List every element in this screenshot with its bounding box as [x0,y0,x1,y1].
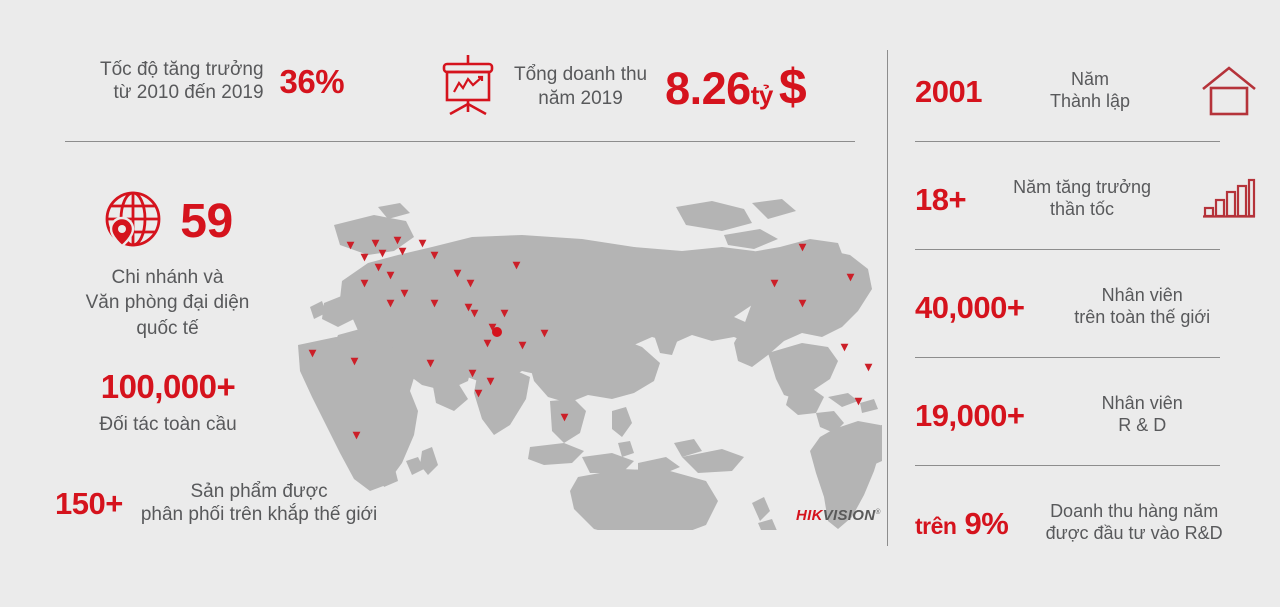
map-location-marker [398,247,407,256]
employees-label-line2: trên toàn thế giới [1024,307,1260,329]
products-label-line2: phân phối trên khắp thế giới [141,503,377,526]
map-location-marker [770,279,779,288]
divider-right-2 [915,249,1220,250]
stat-products: 150+ Sản phẩm được phân phối trên khắp t… [55,480,377,526]
map-location-marker [483,339,492,348]
map-location-marker [360,279,369,288]
logo-trademark: ® [875,509,880,516]
map-location-marker [512,261,521,270]
founded-label-line1: Năm [982,69,1198,91]
rd-investment-label: Doanh thu hàng năm được đầu tư vào R&D [1008,501,1260,545]
map-location-marker [378,249,387,258]
map-location-marker [500,309,509,318]
world-map: HIKVISION® [282,185,882,530]
rd-employees-value: 19,000+ [915,400,1024,431]
stat-growth-rate: Tốc độ tăng trưởng từ 2010 đến 2019 36% [100,58,344,104]
employees-label: Nhân viên trên toàn thế giới [1024,285,1260,329]
rd-investment-label-line2: được đầu tư vào R&D [1008,523,1260,545]
map-location-marker [400,289,409,298]
map-location-marker [560,413,569,422]
growth-label-line1: Tốc độ tăng trưởng [100,58,264,81]
partners-value: 100,000+ [58,370,278,403]
map-location-marker [352,431,361,440]
branches-label: Chi nhánh và Văn phòng đại diện quốc tế [55,265,280,341]
partners-label: Đối tác toàn cầu [58,413,278,436]
founded-value: 2001 [915,76,982,107]
map-location-marker [350,357,359,366]
revenue-value-group: 8.26tỷ$ [665,62,806,112]
map-location-marker [393,236,402,245]
rd-employees-label-line2: R & D [1024,415,1260,437]
map-location-marker [840,343,849,352]
branches-value: 59 [180,198,232,246]
products-value: 150+ [55,488,123,519]
map-location-marker [418,239,427,248]
branches-label-line2: Văn phòng đại diện [55,290,280,315]
rd-investment-prefix: trên [915,515,956,538]
map-location-marker [854,397,863,406]
revenue-label: Tổng doanh thu năm 2019 [514,63,647,109]
world-map-shape [282,185,882,530]
founded-label-line2: Thành lập [982,91,1198,113]
branches-label-line3: quốc tế [55,316,280,341]
rd-employees-label-line1: Nhân viên [1024,393,1260,415]
rd-investment-value-group: trên 9% [915,508,1008,539]
employees-value: 40,000+ [915,292,1024,323]
growth-label: Tốc độ tăng trưởng từ 2010 đến 2019 [100,58,264,104]
stat-total-revenue: Tổng doanh thu năm 2019 8.26tỷ$ [440,52,806,121]
map-location-marker [468,369,477,378]
map-location-marker [474,389,483,398]
map-location-marker [470,309,479,318]
map-location-marker [430,299,439,308]
stat-branches: 59 Chi nhánh và Văn phòng đại diện quốc … [55,188,280,341]
logo-hik-text: HIK [796,507,823,524]
map-location-marker [798,299,807,308]
stat-partners: 100,000+ Đối tác toàn cầu [58,370,278,436]
logo-vision-text: VISION [823,507,876,524]
stat-growth-years: 18+ Năm tăng trưởng thần tốc [915,156,1260,242]
stat-rd-employees: 19,000+ Nhân viên R & D [915,372,1260,458]
map-location-marker [360,253,369,262]
hikvision-logo: HIKVISION® [796,507,881,524]
stat-rd-investment: trên 9% Doanh thu hàng năm được đầu tư v… [915,480,1260,566]
map-location-marker [798,243,807,252]
rd-investment-value: 9% [964,508,1008,539]
revenue-currency: $ [779,62,806,112]
map-location-marker [488,323,497,332]
branches-headline: 59 [55,188,280,255]
house-icon [1198,65,1260,117]
employees-label-line1: Nhân viên [1024,285,1260,307]
map-location-marker [371,239,380,248]
globe-pin-icon [102,188,164,255]
products-label: Sản phẩm được phân phối trên khắp thế gi… [141,480,377,526]
map-location-marker [453,269,462,278]
revenue-label-line2: năm 2019 [514,87,647,110]
revenue-label-line1: Tổng doanh thu [514,63,647,86]
map-location-marker [466,279,475,288]
stat-employees-worldwide: 40,000+ Nhân viên trên toàn thế giới [915,264,1260,350]
divider-right-3 [915,357,1220,358]
map-location-marker [864,363,873,372]
stat-founded-year: 2001 Năm Thành lập [915,48,1260,134]
map-location-marker [386,299,395,308]
map-location-marker [308,349,317,358]
map-location-marker [426,359,435,368]
divider-top-horizontal [65,141,855,142]
revenue-value: 8.26 [665,66,751,111]
map-location-marker [846,273,855,282]
growth-years-label: Năm tăng trưởng thần tốc [966,177,1198,221]
map-location-marker [486,377,495,386]
divider-right-4 [915,465,1220,466]
revenue-unit: tỷ [751,82,773,108]
divider-right-1 [915,141,1220,142]
map-location-marker [374,263,383,272]
map-location-marker [386,271,395,280]
bar-chart-icon [1198,178,1260,220]
map-location-marker [518,341,527,350]
map-location-marker [430,251,439,260]
map-location-marker [346,241,355,250]
branches-label-line1: Chi nhánh và [55,265,280,290]
map-location-marker [540,329,549,338]
growth-years-label-line2: thần tốc [966,199,1198,221]
growth-years-label-line1: Năm tăng trưởng [966,177,1198,199]
infographic-root: HIKVISION® Tốc độ tăng trưởng từ 2010 đế… [0,0,1280,607]
divider-vertical-main [887,50,888,546]
products-label-line1: Sản phẩm được [141,480,377,503]
rd-investment-label-line1: Doanh thu hàng năm [1008,501,1260,523]
presentation-chart-icon [440,52,496,121]
growth-years-value: 18+ [915,184,966,215]
rd-employees-label: Nhân viên R & D [1024,393,1260,437]
growth-label-line2: từ 2010 đến 2019 [100,81,264,104]
founded-label: Năm Thành lập [982,69,1198,113]
growth-value: 36% [280,65,345,98]
